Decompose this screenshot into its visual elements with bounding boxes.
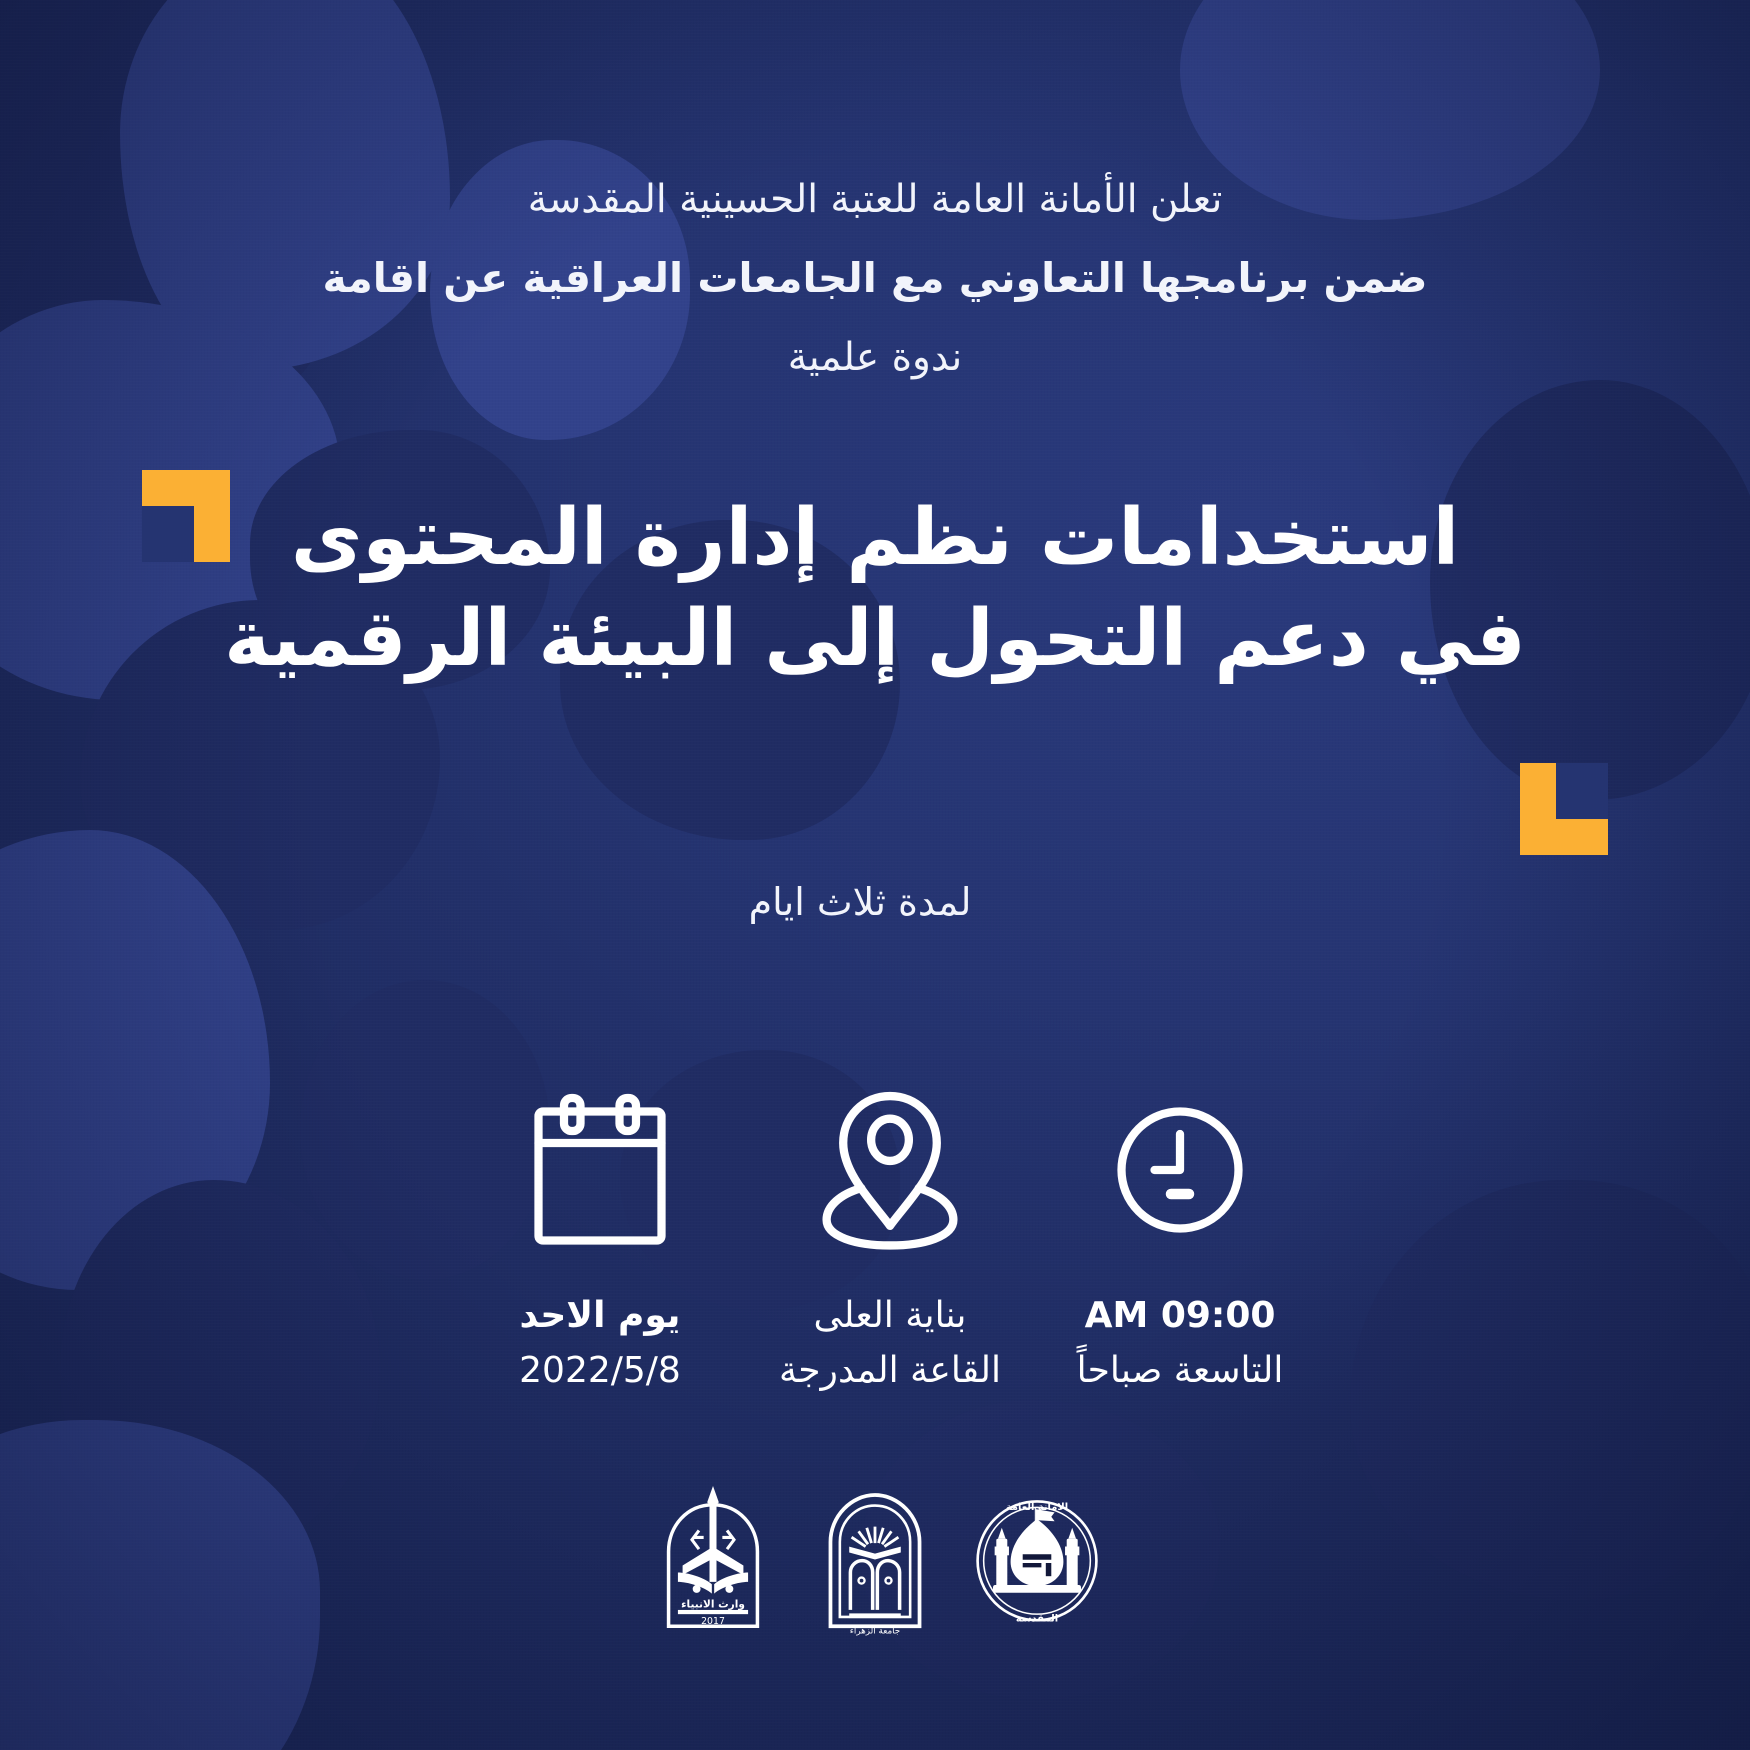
svg-text:الامانة العامة: الامانة العامة: [1006, 1502, 1068, 1513]
logo-warith-al-anbiyaa-university: وارث الانبياء 2017: [647, 1478, 779, 1638]
clock-icon: [1105, 1075, 1255, 1265]
time-primary: 09:00 AM: [1077, 1289, 1284, 1344]
location-primary: بناية العلى: [779, 1289, 1001, 1344]
duration-text: لمدة ثلاث ايام: [120, 880, 1600, 924]
location-secondary: القاعة المدرجة: [779, 1344, 1001, 1399]
svg-text:المقدسة: المقدسة: [1016, 1613, 1058, 1624]
logo-holy-husseini-shrine: الامانة العامة المقدسة: [971, 1478, 1103, 1638]
title-line-2: في دعم التحول إلى البيئة الرقمية: [210, 589, 1540, 690]
announcement-line-2: ضمن برنامجها التعاوني مع الجامعات العراق…: [240, 245, 1510, 311]
page-title: استخدامات نظم إدارة المحتوى في دعم التحو…: [210, 488, 1540, 691]
event-detail-date: يوم الاحد 2022/5/8: [470, 1075, 730, 1398]
title-line-1: استخدامات نظم إدارة المحتوى: [210, 488, 1540, 589]
announcement-line-1: تعلن الأمانة العامة للعتبة الحسينية المق…: [240, 168, 1510, 231]
event-details-row: 09:00 AM التاسعة صباحاً بناية العلى القا…: [470, 1075, 1310, 1398]
date-secondary: 2022/5/8: [519, 1344, 681, 1399]
partner-logos: الامانة العامة المقدسة: [0, 1478, 1750, 1638]
logo-al-zahraa-university: جامعة الزهراء: [809, 1478, 941, 1638]
event-detail-location: بناية العلى القاعة المدرجة: [760, 1075, 1020, 1398]
announcement-line-3: ندوة علمية: [240, 326, 1510, 389]
corner-bracket-bottom-right-icon: [1520, 763, 1608, 855]
announcement-header: تعلن الأمانة العامة للعتبة الحسينية المق…: [240, 168, 1510, 389]
event-detail-time: 09:00 AM التاسعة صباحاً: [1050, 1075, 1310, 1398]
date-primary: يوم الاحد: [519, 1289, 681, 1344]
event-poster: تعلن الأمانة العامة للعتبة الحسينية المق…: [0, 0, 1750, 1750]
title-block: استخدامات نظم إدارة المحتوى في دعم التحو…: [120, 470, 1630, 800]
svg-text:2017: 2017: [701, 1616, 725, 1627]
calendar-icon: [525, 1075, 675, 1265]
svg-text:جامعة الزهراء: جامعة الزهراء: [850, 1626, 900, 1636]
time-secondary: التاسعة صباحاً: [1077, 1344, 1284, 1399]
location-pin-icon: [814, 1075, 966, 1265]
svg-text:وارث الانبياء: وارث الانبياء: [681, 1599, 745, 1611]
